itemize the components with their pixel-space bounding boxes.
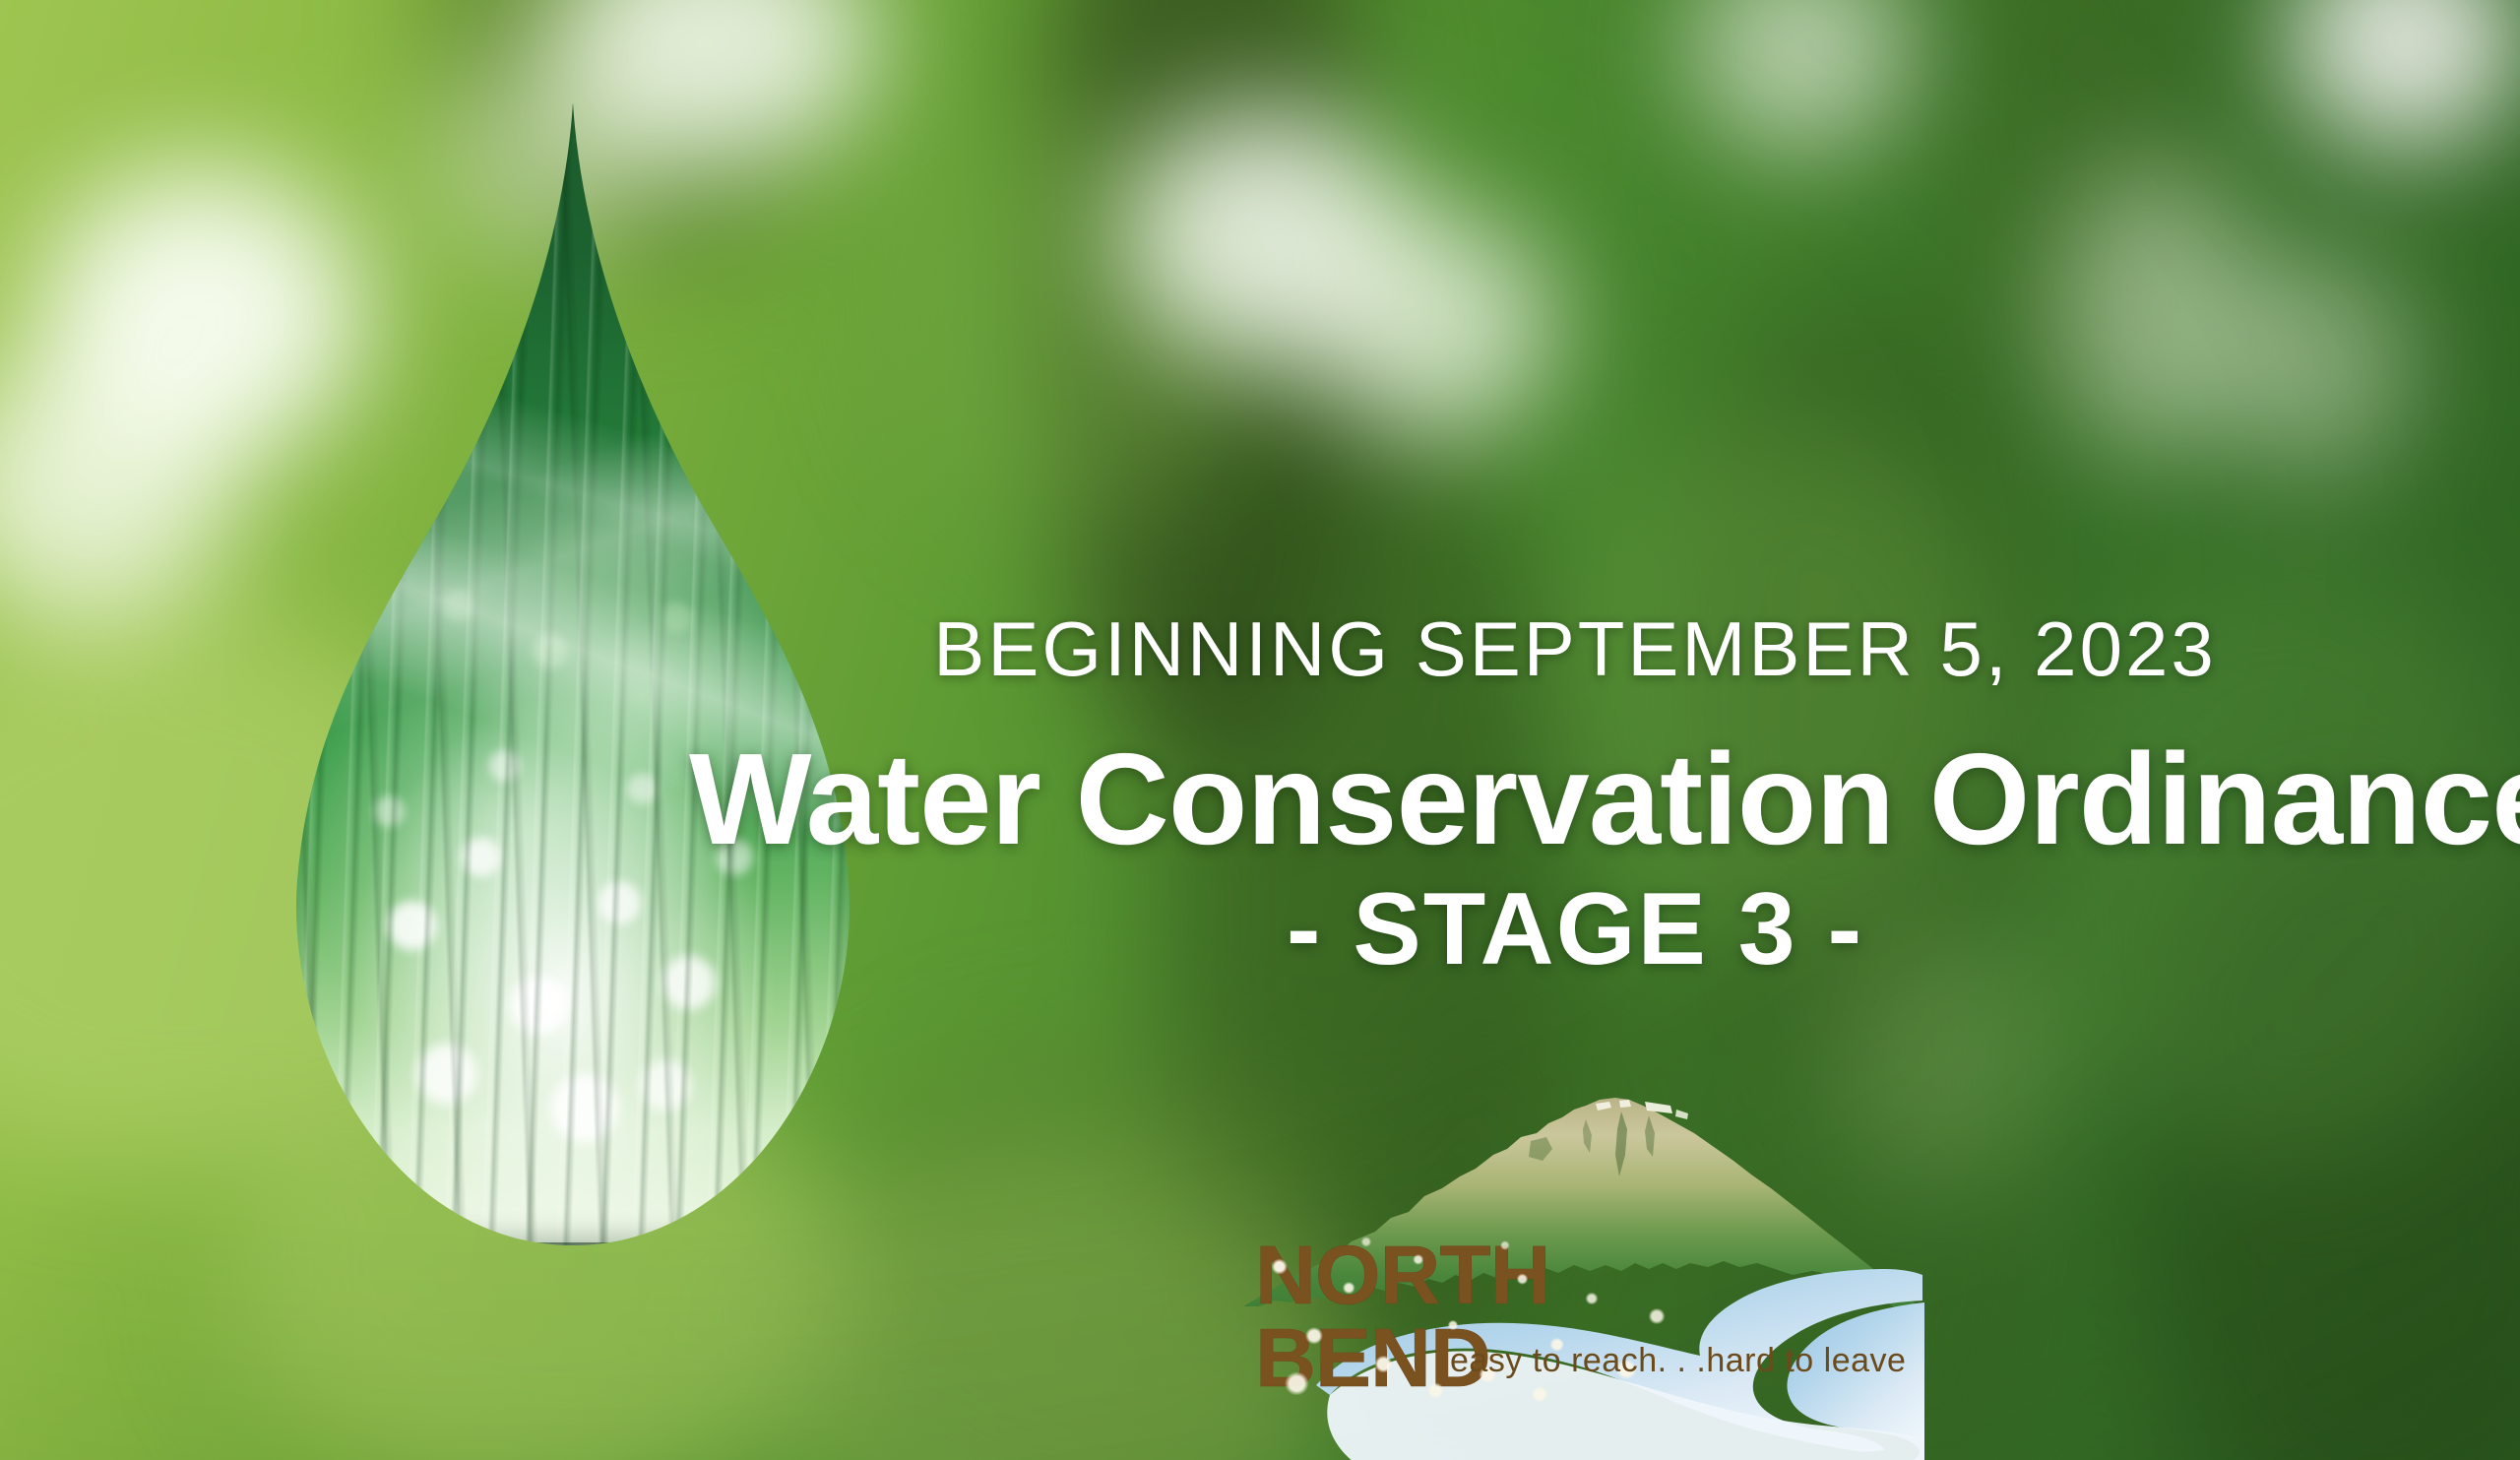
start-date-line: BEGINNING SEPTEMBER 5, 2023	[689, 610, 2461, 687]
announcement-text-block: BEGINNING SEPTEMBER 5, 2023 Water Conser…	[689, 610, 2461, 981]
page-title: Water Conservation Ordinance	[689, 730, 2461, 868]
stage-label: - STAGE 3 -	[689, 878, 2461, 981]
logo-tagline: easy to reach. . .hard to leave	[1450, 1342, 1906, 1380]
north-bend-logo: NORTH BEND easy to reach. . .hard to lea…	[1235, 1039, 1924, 1460]
water-conservation-poster: BEGINNING SEPTEMBER 5, 2023 Water Conser…	[0, 0, 2520, 1460]
